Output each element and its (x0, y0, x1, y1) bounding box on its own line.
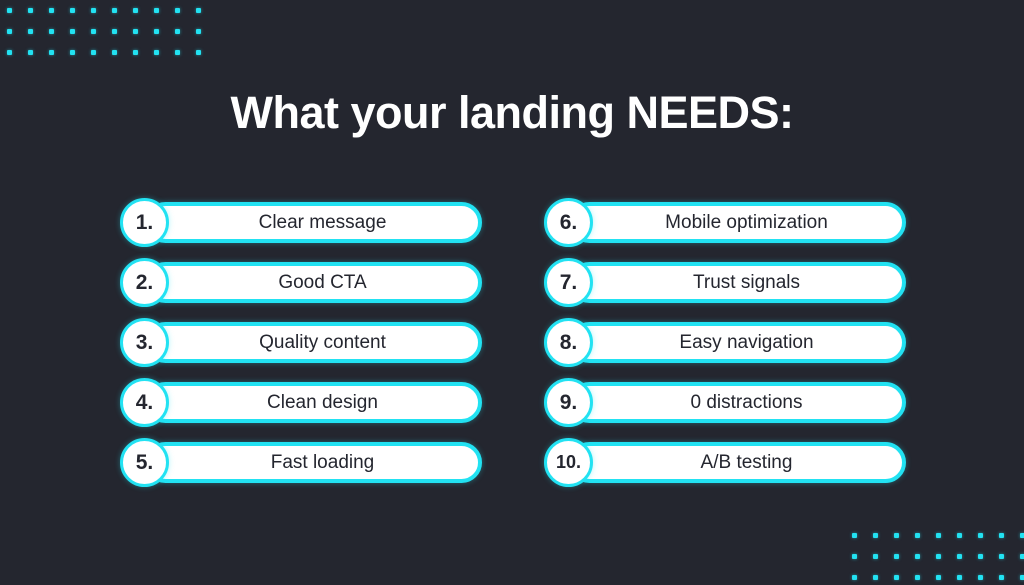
list-item[interactable]: Trust signals 7. (544, 262, 906, 303)
list-item[interactable]: Easy navigation 8. (544, 322, 906, 363)
list-item[interactable]: Fast loading 5. (120, 442, 482, 483)
decorative-dot (133, 8, 154, 29)
item-label: Easy navigation (653, 332, 821, 354)
decorative-dot (957, 575, 978, 585)
decorative-dot (1020, 554, 1024, 575)
decorative-dot (957, 533, 978, 554)
decorative-dot (91, 50, 112, 71)
decorative-dot (28, 29, 49, 50)
decorative-dot (70, 50, 91, 71)
decorative-dot (112, 50, 133, 71)
item-number: 2. (136, 272, 154, 293)
checklist-column-left: Clear message 1. Good CTA 2. Quality con… (120, 202, 482, 483)
item-pill[interactable]: Trust signals (569, 262, 906, 303)
decorative-dot (7, 50, 28, 71)
item-pill[interactable]: 0 distractions (569, 382, 906, 423)
decorative-dot (894, 554, 915, 575)
decorative-dot (999, 554, 1020, 575)
decorative-dot (957, 554, 978, 575)
item-pill[interactable]: Mobile optimization (569, 202, 906, 243)
decorative-dot (28, 8, 49, 29)
decorative-dot (999, 575, 1020, 585)
item-number-badge: 1. (120, 198, 169, 247)
list-item[interactable]: Good CTA 2. (120, 262, 482, 303)
list-item[interactable]: 0 distractions 9. (544, 382, 906, 423)
item-label: Clean design (241, 392, 386, 414)
list-item[interactable]: Mobile optimization 6. (544, 202, 906, 243)
item-number-badge: 3. (120, 318, 169, 367)
item-label: 0 distractions (665, 392, 811, 414)
item-number-badge: 7. (544, 258, 593, 307)
item-number: 6. (560, 212, 578, 233)
item-label: Trust signals (667, 272, 808, 294)
item-number-badge: 4. (120, 378, 169, 427)
decorative-dot (133, 29, 154, 50)
decorative-dot (852, 554, 873, 575)
item-label: Mobile optimization (639, 212, 836, 234)
item-label: Good CTA (252, 272, 374, 294)
decorative-dot (936, 533, 957, 554)
item-pill[interactable]: Clean design (145, 382, 482, 423)
decorative-dot (175, 8, 196, 29)
decorative-dot (852, 575, 873, 585)
item-number-badge: 6. (544, 198, 593, 247)
decorative-dot (154, 8, 175, 29)
item-number: 3. (136, 332, 154, 353)
decorative-dot (196, 29, 217, 50)
decorative-dot (7, 8, 28, 29)
item-number: 10. (556, 452, 581, 473)
item-number: 8. (560, 332, 578, 353)
decorative-dot (175, 29, 196, 50)
decorative-dot (28, 50, 49, 71)
page-title: What your landing NEEDS: (0, 86, 1024, 140)
item-number-badge: 10. (544, 438, 593, 487)
list-item[interactable]: Clean design 4. (120, 382, 482, 423)
item-number: 4. (136, 392, 154, 413)
item-pill[interactable]: Quality content (145, 322, 482, 363)
decorative-dot (978, 533, 999, 554)
decorative-dot (915, 554, 936, 575)
item-label: Clear message (233, 212, 395, 234)
list-item[interactable]: A/B testing 10. (544, 442, 906, 483)
item-number-badge: 8. (544, 318, 593, 367)
item-pill[interactable]: A/B testing (569, 442, 906, 483)
decorative-dot (196, 50, 217, 71)
decorative-dot (91, 8, 112, 29)
decorative-dot (154, 50, 175, 71)
decorative-dot (999, 533, 1020, 554)
decorative-dot (936, 575, 957, 585)
decorative-dot (978, 575, 999, 585)
decorative-dot (49, 8, 70, 29)
item-pill[interactable]: Fast loading (145, 442, 482, 483)
decorative-dot (7, 29, 28, 50)
decorative-dot (70, 8, 91, 29)
decorative-dot (915, 533, 936, 554)
item-pill[interactable]: Easy navigation (569, 322, 906, 363)
decorative-dot (175, 50, 196, 71)
decorative-dot (936, 554, 957, 575)
slide-canvas: What your landing NEEDS: Clear message 1… (0, 0, 1024, 585)
item-pill[interactable]: Good CTA (145, 262, 482, 303)
decorative-dot (894, 575, 915, 585)
checklist-column-right: Mobile optimization 6. Trust signals 7. … (544, 202, 906, 483)
decorative-dot (112, 8, 133, 29)
decorative-dot (978, 554, 999, 575)
item-label: Fast loading (245, 452, 383, 474)
decorative-dot (1020, 575, 1024, 585)
item-number: 1. (136, 212, 154, 233)
list-item[interactable]: Quality content 3. (120, 322, 482, 363)
list-item[interactable]: Clear message 1. (120, 202, 482, 243)
item-number: 5. (136, 452, 154, 473)
decorative-dot (133, 50, 154, 71)
decorative-dot (49, 50, 70, 71)
item-number-badge: 5. (120, 438, 169, 487)
decorative-dot (70, 29, 91, 50)
item-number-badge: 2. (120, 258, 169, 307)
decorative-dot (91, 29, 112, 50)
decorative-dot (112, 29, 133, 50)
decorative-dot (852, 533, 873, 554)
decorative-dot (49, 29, 70, 50)
decorative-dot (873, 554, 894, 575)
item-number-badge: 9. (544, 378, 593, 427)
dot-grid-bottom-right-icon (852, 533, 1024, 585)
decorative-dot (154, 29, 175, 50)
decorative-dot (873, 533, 894, 554)
item-pill[interactable]: Clear message (145, 202, 482, 243)
decorative-dot (196, 8, 217, 29)
item-label: Quality content (233, 332, 394, 354)
dot-grid-top-left-icon (7, 8, 217, 71)
decorative-dot (894, 533, 915, 554)
item-number: 7. (560, 272, 578, 293)
item-number: 9. (560, 392, 578, 413)
decorative-dot (915, 575, 936, 585)
decorative-dot (873, 575, 894, 585)
decorative-dot (1020, 533, 1024, 554)
item-label: A/B testing (675, 452, 801, 474)
